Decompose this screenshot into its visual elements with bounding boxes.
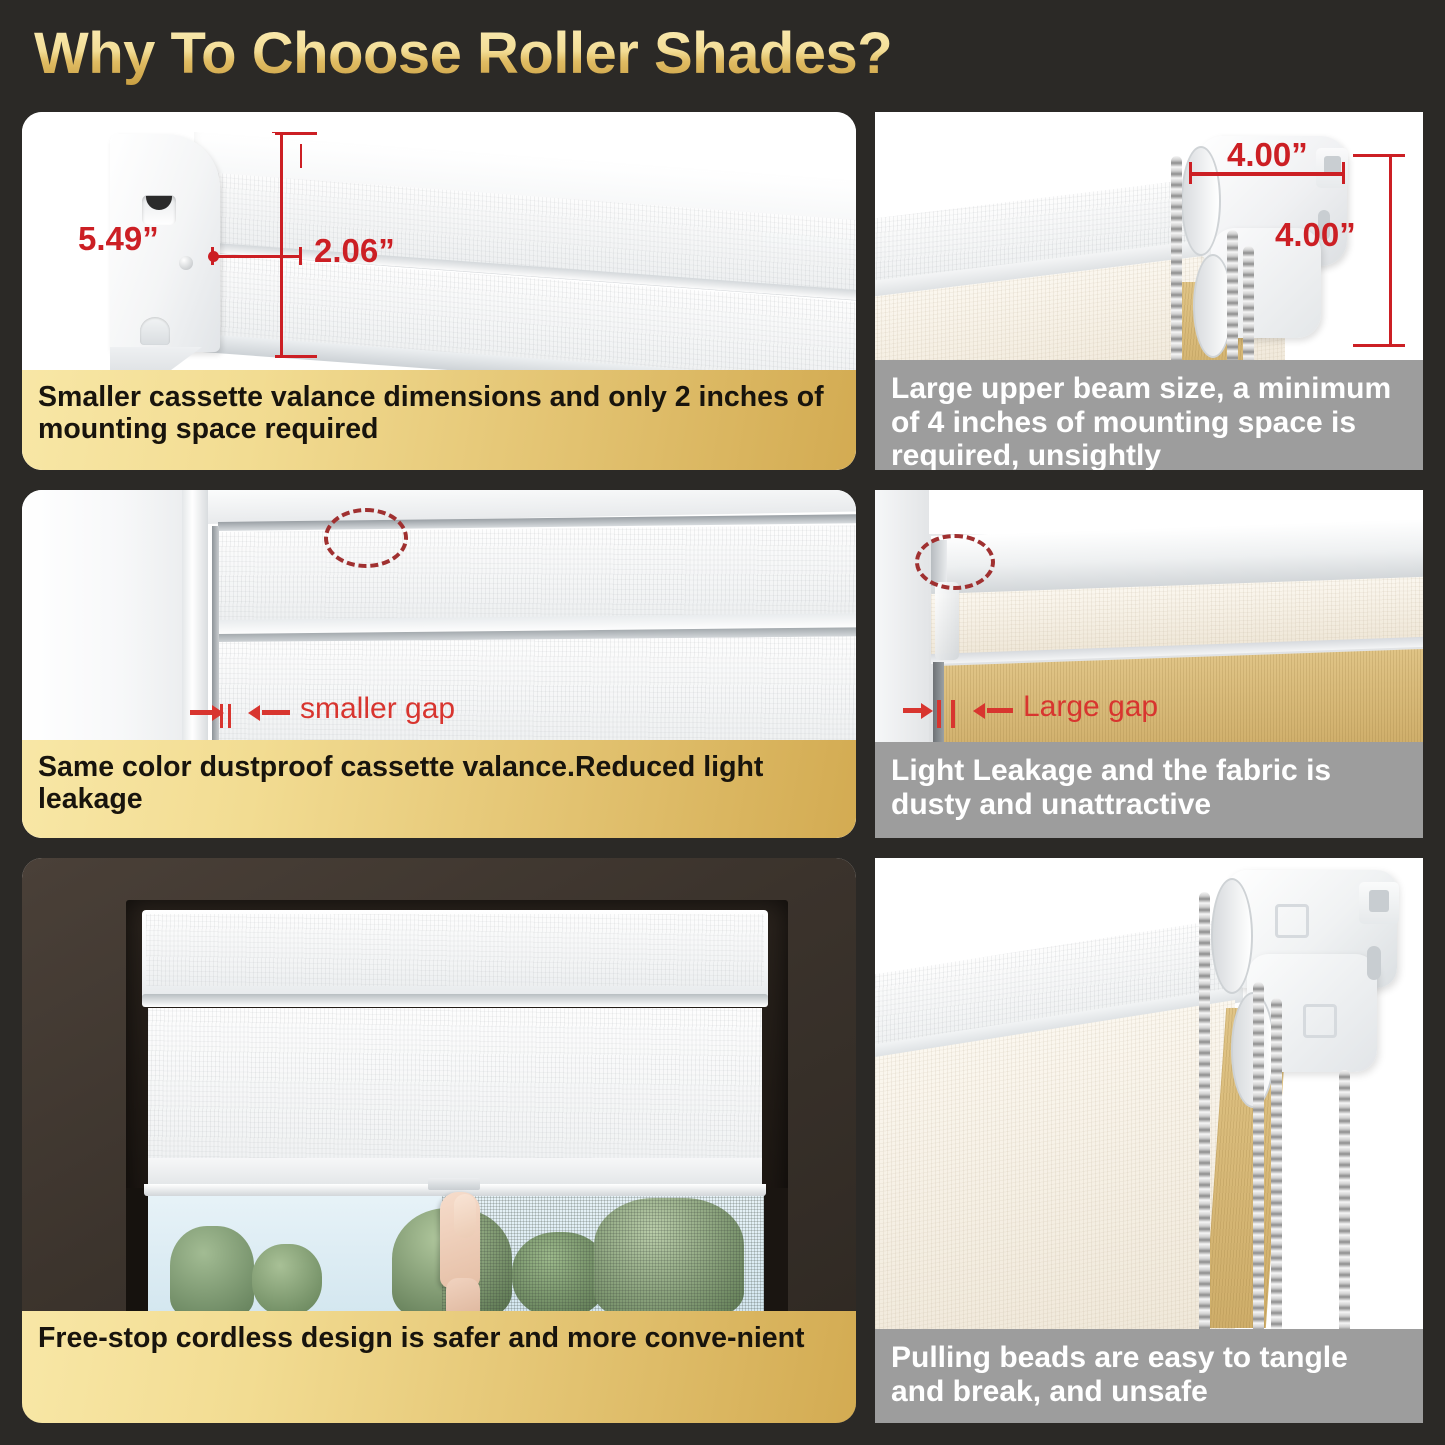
dimension-label-2-06: 2.06” [314, 232, 395, 270]
bead-chain [1271, 998, 1282, 1342]
dim-line-4-00-height [1389, 154, 1392, 347]
panel-1-cassette-valance: 2.06” 5.49” Smaller cassette valance dim… [22, 112, 856, 470]
page-title: Why To Choose Roller Shades? [34, 20, 1134, 98]
dimension-label-4-00-width: 4.00” [1227, 136, 1308, 174]
bead-chain [1253, 982, 1264, 1342]
bead-chain [1339, 1070, 1350, 1340]
panel-2-caption: Large upper beam size, a minimum of 4 in… [875, 360, 1423, 470]
page-title-text: Why To Choose Roller Shades? [34, 20, 1134, 87]
dim-line-5-49 [280, 132, 283, 358]
panel-4-caption: Light Leakage and the fabric is dusty an… [875, 742, 1423, 838]
gap-label-large: Large gap [1023, 690, 1158, 724]
highlight-ellipse-icon [324, 508, 408, 568]
highlight-ellipse-icon [915, 534, 995, 590]
panel-2-large-beam: 4.00” 4.00” Large upper beam size, a min… [875, 112, 1423, 470]
panel-6-pulling-beads: Pulling beads are easy to tangle and bre… [875, 858, 1423, 1423]
panel-3-caption: Same color dustproof cassette valance.Re… [22, 740, 856, 838]
dimension-label-5-49: 5.49” [78, 220, 159, 258]
panel-5-cordless-window: Free-stop cordless design is safer and m… [22, 858, 856, 1423]
gap-label-smaller: smaller gap [300, 692, 455, 726]
dim-tick-2-06-right [300, 144, 302, 168]
dimension-label-4-00-height: 4.00” [1275, 216, 1356, 254]
panel-1-caption: Smaller cassette valance dimensions and … [22, 370, 856, 470]
dim-tick-4-00-bottom [1353, 344, 1405, 347]
panel-4-large-gap: Large gap Light Leakage and the fabric i… [875, 490, 1423, 838]
panel-5-caption: Free-stop cordless design is safer and m… [22, 1311, 856, 1423]
dim-tick-4-00-top [1353, 154, 1405, 157]
bead-chain [1199, 892, 1210, 1344]
panel-3-smaller-gap: smaller gap Same color dustproof cassett… [22, 490, 856, 838]
panel-6-caption: Pulling beads are easy to tangle and bre… [875, 1329, 1423, 1423]
infographic-page: Why To Choose Roller Shades? [0, 0, 1445, 1445]
